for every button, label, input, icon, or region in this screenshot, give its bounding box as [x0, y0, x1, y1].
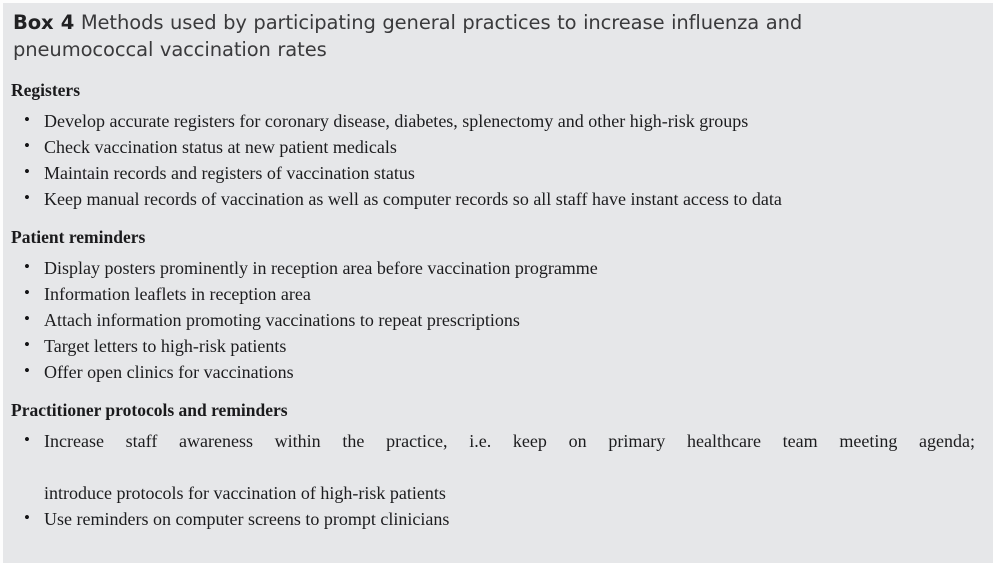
- box-title: Box 4 Methods used by participating gene…: [10, 9, 975, 63]
- list-item: Check vaccination status at new patient …: [10, 134, 975, 160]
- bullet-list-registers: Develop accurate registers for coronary …: [10, 108, 975, 212]
- list-item: Attach information promoting vaccination…: [10, 307, 975, 333]
- list-item: Information leaflets in reception area: [10, 281, 975, 307]
- list-item: Display posters prominently in reception…: [10, 255, 975, 281]
- section-heading-registers: Registers: [10, 67, 975, 101]
- list-item-line-1: Increase staff awareness within the prac…: [44, 428, 975, 480]
- bullet-list-patient-reminders: Display posters prominently in reception…: [10, 255, 975, 385]
- box-title-line2: pneumococcal vaccination rates: [13, 36, 975, 63]
- box-title-lead: Box 4: [13, 11, 74, 34]
- list-item: Offer open clinics for vaccinations: [10, 359, 975, 385]
- box-title-rest: Methods used by participating general pr…: [81, 11, 802, 34]
- list-item: Increase staff awareness within the prac…: [10, 428, 975, 506]
- bullet-list-practitioner-protocols: Increase staff awareness within the prac…: [10, 428, 975, 532]
- list-item: Use reminders on computer screens to pro…: [10, 506, 975, 532]
- section-heading-patient-reminders: Patient reminders: [10, 212, 975, 248]
- section-heading-practitioner-protocols: Practitioner protocols and reminders: [10, 385, 975, 421]
- list-item: Target letters to high-risk patients: [10, 333, 975, 359]
- list-item-line-2: introduce protocols for vaccination of h…: [44, 480, 975, 506]
- list-item: Develop accurate registers for coronary …: [10, 108, 975, 134]
- list-item: Keep manual records of vaccination as we…: [10, 186, 975, 212]
- box-container: Box 4 Methods used by participating gene…: [0, 0, 993, 563]
- list-item: Maintain records and registers of vaccin…: [10, 160, 975, 186]
